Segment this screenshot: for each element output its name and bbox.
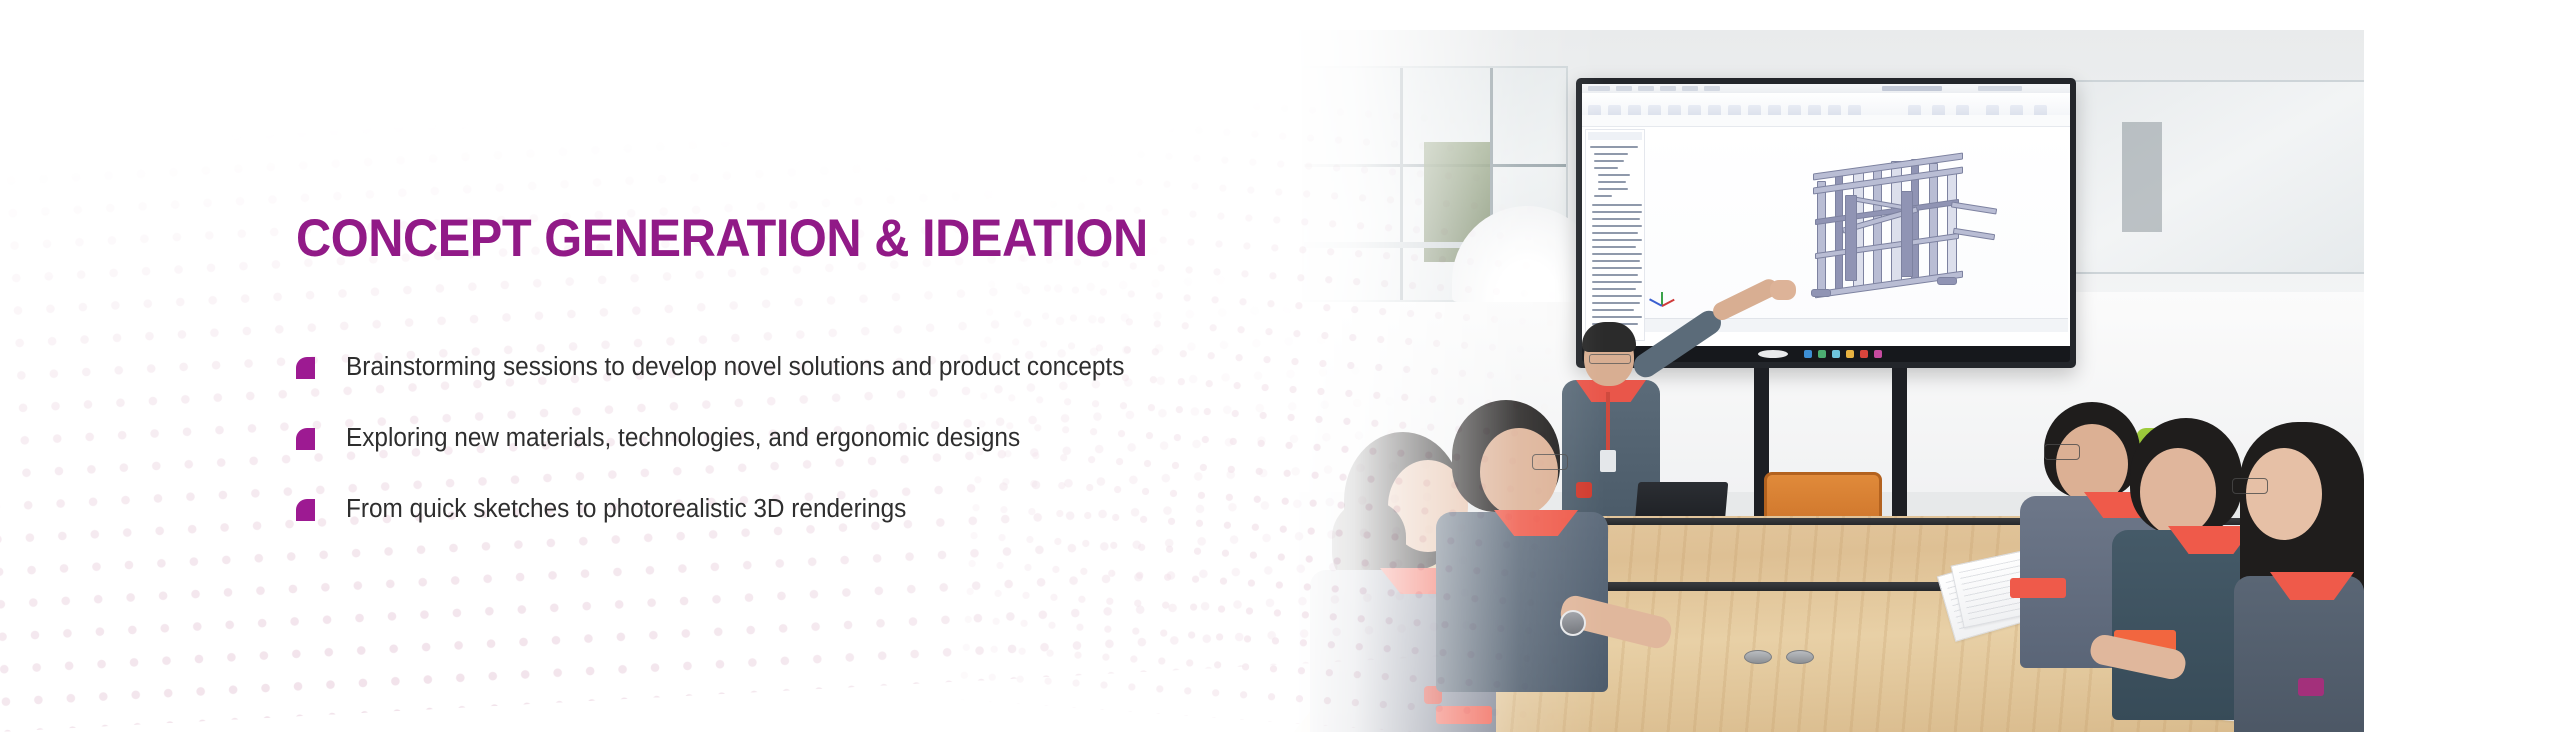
table-grommet [1744,650,1772,664]
list-item-label: From quick sketches to photorealistic 3D… [346,494,906,524]
wall-display [1576,78,2076,368]
participant-cuff [1436,706,1492,724]
list-item-label: Exploring new materials, technologies, a… [346,423,1020,453]
3d-assembly-model [1795,147,1991,312]
list-item-label: Brainstorming sessions to develop novel … [346,352,1124,382]
presenter-glasses [1589,354,1631,364]
participant-glasses [2232,478,2268,494]
cad-axis-triad [1651,286,1673,308]
cad-software-screen [1582,84,2070,346]
list-item: Exploring new materials, technologies, a… [296,423,1256,453]
participant-head [2140,448,2216,536]
bullet-marker-icon [296,499,315,521]
bullet-marker-icon [296,428,315,450]
meeting-photo [1284,30,2364,732]
cad-ribbon-toolbar [1582,93,2070,116]
cad-tab-strip [1582,115,2070,127]
presenter-uniform-logo [1576,482,1592,498]
page-title: CONCEPT GENERATION & IDEATION [296,212,1148,265]
presenter-lanyard [1606,392,1610,454]
photo-content [1284,30,2364,732]
wristwatch [1560,610,1586,636]
participant-cuff [2010,578,2066,598]
presenter-pointing-hand [1770,280,1796,300]
list-item: Brainstorming sessions to develop novel … [296,352,1256,382]
presenter-badge [1600,450,1616,472]
window-mullion [1400,68,1403,300]
bullet-marker-icon [296,357,315,379]
bullet-list: Brainstorming sessions to develop novel … [296,352,1256,565]
participant-head [1480,428,1558,516]
display-stand-leg [1892,368,1907,518]
cad-feature-tree [1585,129,1645,341]
cad-tree-toolbar [1588,132,1642,140]
text-column: CONCEPT GENERATION & IDEATION Brainstorm… [0,0,1300,732]
uniform-logo [2298,678,2324,696]
doorway-shadow [2122,122,2162,232]
table-grommet [1786,650,1814,664]
participant-glasses [1532,454,1568,470]
cad-viewport [1645,129,2068,332]
slide-canvas: CONCEPT GENERATION & IDEATION Brainstorm… [0,0,2560,732]
participant-glasses [2044,444,2080,460]
list-item: From quick sketches to photorealistic 3D… [296,494,1256,524]
participant-head [2246,448,2322,540]
